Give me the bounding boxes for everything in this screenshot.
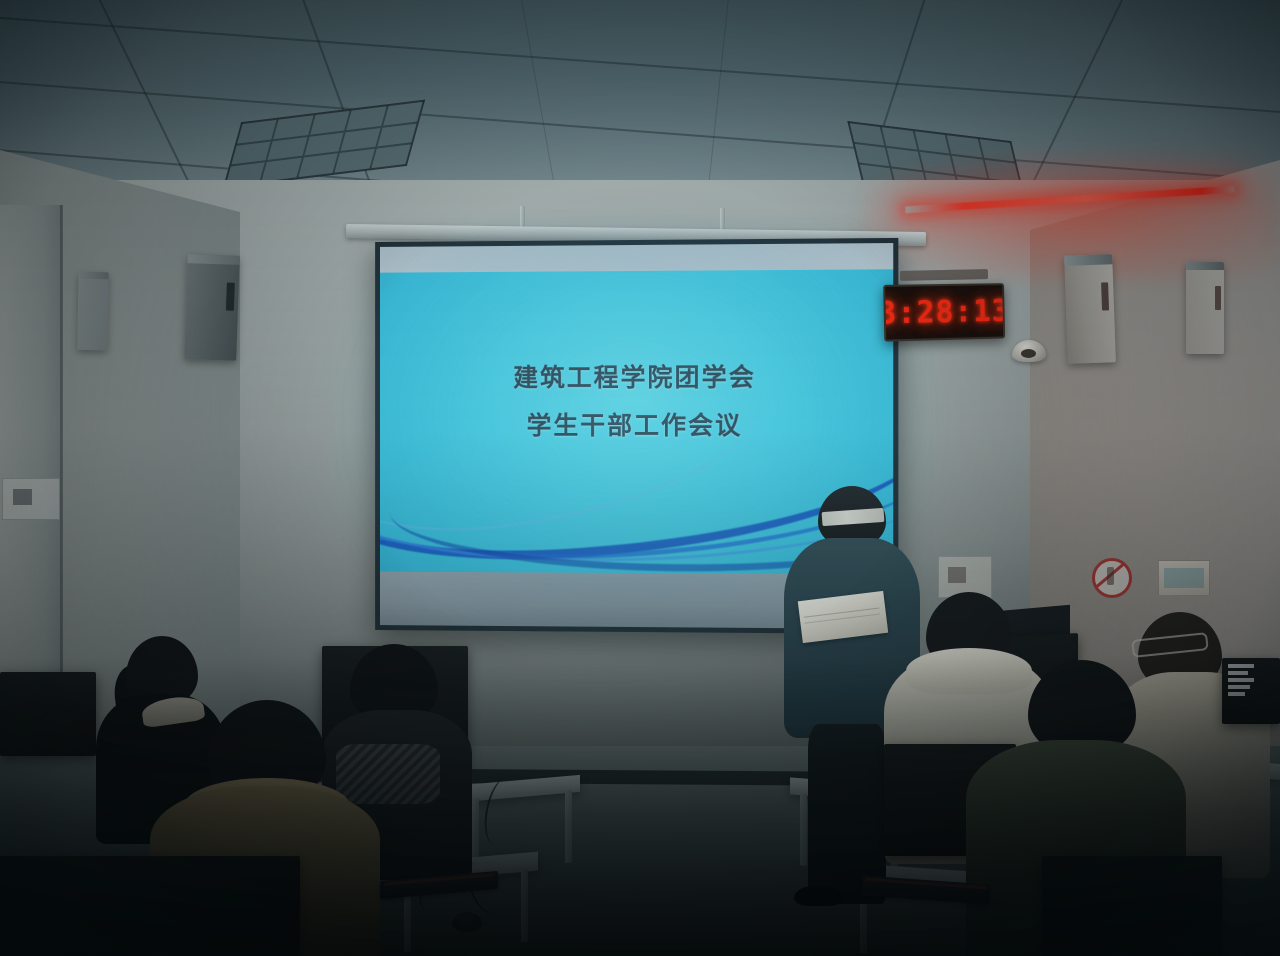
lit-computer-monitor[interactable] <box>1222 658 1280 724</box>
wall-outlet-plate[interactable] <box>2 478 60 520</box>
computer-monitor <box>0 856 300 956</box>
led-clock: 3:28:13 <box>883 283 1005 342</box>
no-smoking-sign <box>1092 558 1132 598</box>
meeting-room-photo: 建筑工程学院团学会 学生干部工作会议 3:28:13 <box>0 0 1280 956</box>
wall-speaker-left-small <box>77 272 108 351</box>
slide-title-line-1: 建筑工程学院团学会 <box>380 364 893 391</box>
presenter-shoe <box>794 886 844 906</box>
clock-mount-bracket <box>900 269 988 281</box>
computer-mouse[interactable] <box>452 912 482 932</box>
computer-monitor <box>0 672 96 756</box>
slide-title-block: 建筑工程学院团学会 学生干部工作会议 <box>380 364 893 439</box>
wall-speaker-right-far <box>1186 262 1224 354</box>
wall-speaker-left-upper <box>184 254 240 361</box>
computer-monitor <box>1042 856 1222 956</box>
ceiling-air-vent <box>223 100 425 189</box>
led-clock-display: 3:28:13 <box>883 293 1005 331</box>
wall-speaker-right-near <box>1064 254 1116 364</box>
monitor-text-lines <box>1228 664 1254 696</box>
slide-title-line-2: 学生干部工作会议 <box>380 413 893 440</box>
wall-control-panel[interactable] <box>1158 560 1210 596</box>
